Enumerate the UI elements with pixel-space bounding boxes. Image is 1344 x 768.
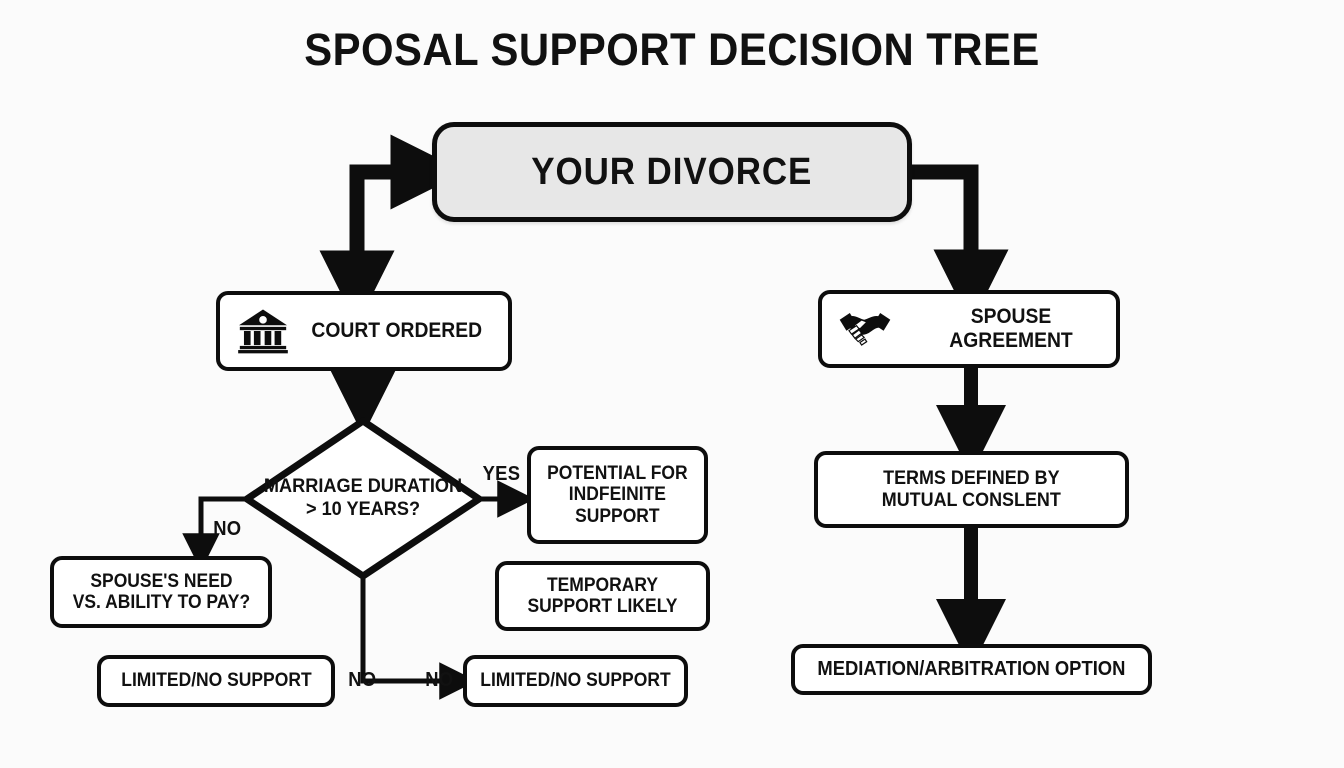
- node-mediation-arbitration-label: MEDIATION/ARBITRATION OPTION: [817, 658, 1125, 680]
- node-marriage-duration-text: MARRIAGE DURATION > 10 YEARS?: [255, 475, 471, 522]
- node-spouse-agreement-label: SPOUSE AGREEMENT: [914, 305, 1107, 352]
- node-terms-mutual-consent[interactable]: TERMS DEFINED BY MUTUAL CONSLENT: [814, 451, 1129, 528]
- node-limited-support-left-label: LIMITED/NO SUPPORT: [121, 670, 311, 691]
- node-limited-support-mid-label: LIMITED/NO SUPPORT: [480, 670, 670, 691]
- node-your-divorce-label: YOUR DIVORCE: [531, 151, 812, 194]
- node-spouse-agreement[interactable]: SPOUSE AGREEMENT: [818, 290, 1120, 368]
- edge-label-no-middle: NO: [347, 669, 378, 692]
- node-court-ordered[interactable]: COURT ORDERED: [216, 291, 512, 371]
- node-marriage-duration[interactable]: MARRIAGE DURATION > 10 YEARS?: [247, 421, 479, 576]
- node-temporary-support[interactable]: TEMPORARY SUPPORT LIKELY: [495, 561, 710, 631]
- node-court-ordered-label: COURT ORDERED: [311, 319, 482, 343]
- edge-label-yes-text: YES: [483, 463, 521, 486]
- node-limited-support-left[interactable]: LIMITED/NO SUPPORT: [97, 655, 335, 707]
- edge-label-no-right-text: NO: [425, 669, 453, 692]
- node-indefinite-support-label: POTENTIAL FOR INDFEINITE SUPPORT: [547, 463, 688, 527]
- edge-label-no-left-text: NO: [213, 518, 241, 541]
- edge-label-yes: YES: [481, 463, 522, 486]
- node-marriage-duration-label: MARRIAGE DURATION > 10 YEARS?: [247, 452, 479, 546]
- node-terms-mutual-consent-label: TERMS DEFINED BY MUTUAL CONSLENT: [882, 468, 1061, 512]
- node-indefinite-support[interactable]: POTENTIAL FOR INDFEINITE SUPPORT: [527, 446, 708, 544]
- edge-label-no-middle-text: NO: [348, 669, 376, 692]
- page-title: SPOSAL SUPPORT DECISION TREE: [47, 24, 1297, 76]
- decision-tree-diagram: SPOSAL SUPPORT DECISION TREE YOUR DIVORC…: [0, 0, 1344, 768]
- node-mediation-arbitration[interactable]: MEDIATION/ARBITRATION OPTION: [791, 644, 1152, 695]
- edge-diamond-no-bottom: [363, 576, 458, 681]
- handshake-icon: [838, 305, 892, 353]
- edge-root-to-spouse: [912, 172, 971, 287]
- edge-label-no-right: NO: [424, 669, 455, 692]
- node-limited-support-mid[interactable]: LIMITED/NO SUPPORT: [463, 655, 688, 707]
- edge-root-to-court: [357, 172, 430, 288]
- node-temporary-support-label: TEMPORARY SUPPORT LIKELY: [528, 575, 678, 618]
- courthouse-icon: [236, 307, 290, 355]
- edge-label-no-left: NO: [212, 518, 243, 541]
- node-need-vs-ability[interactable]: SPOUSE'S NEED VS. ABILITY TO PAY?: [50, 556, 272, 628]
- node-need-vs-ability-label: SPOUSE'S NEED VS. ABILITY TO PAY?: [72, 571, 249, 614]
- node-your-divorce[interactable]: YOUR DIVORCE: [432, 122, 912, 222]
